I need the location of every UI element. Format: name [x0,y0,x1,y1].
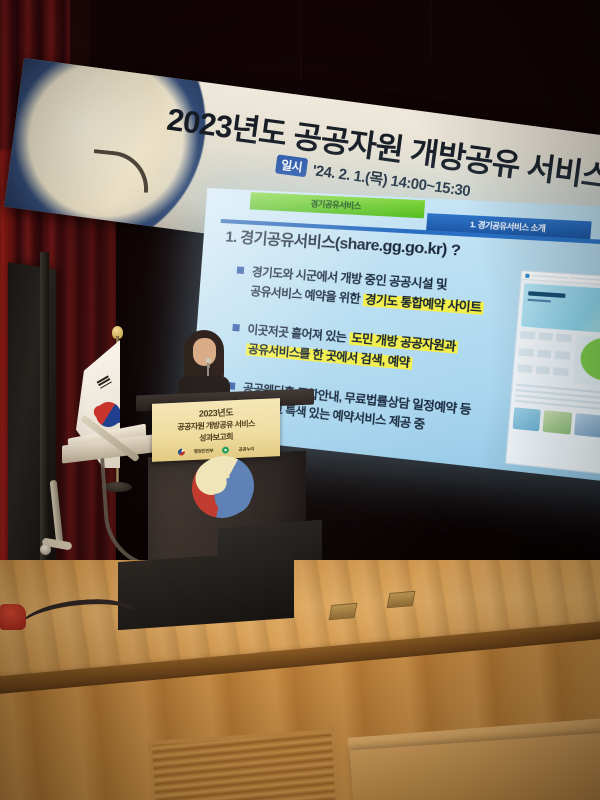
thumb-hero-banner [521,283,600,335]
thumb-icon [520,331,535,340]
government-emblem-icon [190,453,255,521]
floor-outlet [329,603,358,621]
thumb-gyeonggi-map-icon [572,335,600,389]
thumb-icon [556,334,571,343]
thumb-logo-icon [525,273,530,278]
podium-logo2-label: 공공누리 [238,446,254,453]
podium-sign-line2: 공공자원 개방공유 서비스 [177,418,255,433]
cart-wheel [40,544,51,555]
bullet-highlight: 경기도 통합예약 사이트 [363,293,485,314]
floor-outlet [387,591,416,609]
trigram-icon [97,375,113,389]
thumb-icon [553,368,568,377]
microphone-icon [206,358,211,363]
thumb-icon [537,349,552,358]
wall-seam [430,0,432,60]
presenter-face [193,338,216,366]
thumb-card [543,410,572,434]
podium-sign-line3: 성과보고회 [199,431,233,444]
thumb-icon [538,332,553,341]
thumb-section [517,331,600,389]
thumb-icon [519,348,534,357]
taegeuk-icon [178,448,185,455]
podium-sign: 2023년도 공공자원 개방공유 서비스 성과보고회 행정안전부 공공누리 [152,398,280,462]
slide-tab-green-label: 경기공유서비스 [310,198,361,212]
microphone-stem [207,363,209,377]
website-screenshot-thumbnail [505,270,600,478]
bullet-text: 공유서비스 예약을 위한 [250,285,364,305]
photo-scene: 2023년도 공공자원 개방공유 서비스 성과보고회 일시'24. 2. 1.(… [0,0,600,800]
thumb-icon-grid [517,331,572,383]
thumb-hero-sub [528,299,551,303]
thumb-card-row [513,407,600,441]
bullet-square-icon [237,266,245,274]
podium-sign-line1: 2023년도 [199,405,233,420]
thumb-card [573,413,600,438]
list-item: 경기도와 시군에서 개방 중인 공공시설 및 공유서비스 예약을 위한 경기도 … [235,262,516,320]
thumb-icon [535,366,550,375]
thumb-nav-line [532,275,568,278]
wall-seam [300,0,302,80]
slide-tab-green: 경기공유서비스 [250,192,426,218]
thumb-icon [517,365,532,374]
thumb-card [513,407,542,431]
slide-tab-blue-label: 1. 경기공유서비스 소개 [469,219,545,235]
list-item: 이곳저곳 흩어져 있는 도민 개방 공공자원과 공유서비스를 한 곳에서 검색,… [230,320,510,382]
stage-vent-grille [148,729,341,800]
banner-date-badge: 일시 [275,154,308,177]
equipment-case [118,550,294,630]
kogl-mark-icon [222,446,229,453]
thumb-hero-title [528,291,566,298]
thumb-nav-line [570,277,600,280]
podium-logo1-label: 행정안전부 [194,448,214,455]
red-object [0,604,26,630]
bullet-square-icon [232,324,240,332]
thumb-icon [555,351,570,360]
